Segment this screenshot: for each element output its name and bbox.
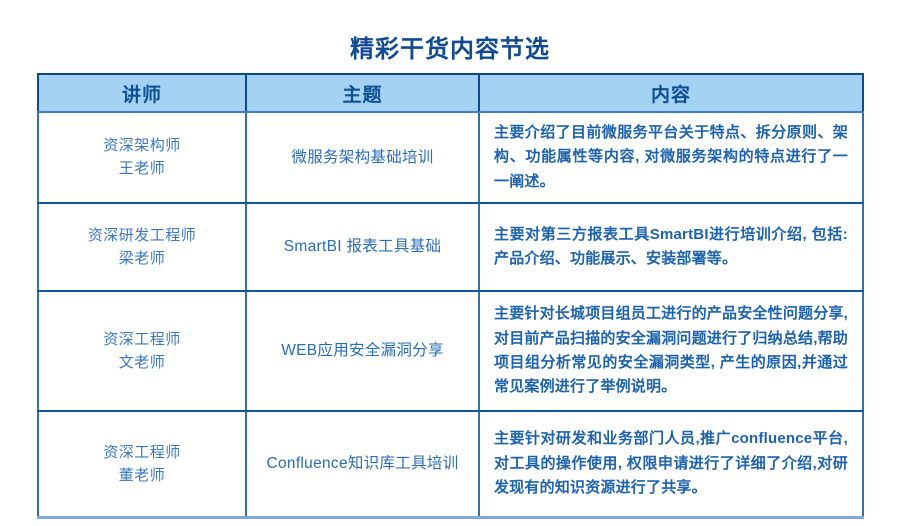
table-header: 讲师 主题 内容 bbox=[38, 74, 863, 112]
cell-content: 主要介绍了目前微服务平台关于特点、拆分原则、架构、功能属性等内容, 对微服务架构… bbox=[479, 112, 863, 203]
cell-teacher: 资深研发工程师 梁老师 bbox=[38, 203, 246, 291]
teacher-block: 资深工程师 文老师 bbox=[39, 322, 245, 381]
content-description: 主要针对长城项目组员工进行的产品安全性问题分享,对目前产品扫描的安全漏洞问题进行… bbox=[480, 294, 862, 407]
table-row: 资深研发工程师 梁老师 SmartBI 报表工具基础 主要对第三方报表工具Sma… bbox=[38, 203, 863, 291]
cell-topic: WEB应用安全漏洞分享 bbox=[246, 291, 479, 411]
cell-topic: SmartBI 报表工具基础 bbox=[246, 203, 479, 291]
column-header-content: 内容 bbox=[479, 74, 863, 112]
cell-content: 主要针对研发和业务部门人员,推广confluence平台, 对工具的操作使用, … bbox=[479, 411, 863, 518]
teacher-name: 王老师 bbox=[47, 157, 237, 180]
column-header-teacher: 讲师 bbox=[38, 74, 246, 112]
teacher-role: 资深工程师 bbox=[47, 328, 237, 351]
table-row: 资深架构师 王老师 微服务架构基础培训 主要介绍了目前微服务平台关于特点、拆分原… bbox=[38, 112, 863, 203]
topic-label: WEB应用安全漏洞分享 bbox=[247, 333, 478, 368]
column-header-topic: 主题 bbox=[246, 74, 479, 112]
cell-topic: Confluence知识库工具培训 bbox=[246, 411, 479, 518]
topic-label: 微服务架构基础培训 bbox=[247, 140, 478, 175]
content-description: 主要介绍了目前微服务平台关于特点、拆分原则、架构、功能属性等内容, 对微服务架构… bbox=[480, 113, 862, 202]
teacher-role: 资深工程师 bbox=[47, 441, 237, 464]
cell-teacher: 资深工程师 董老师 bbox=[38, 411, 246, 518]
topic-label: SmartBI 报表工具基础 bbox=[247, 229, 478, 264]
teacher-block: 资深架构师 王老师 bbox=[39, 128, 245, 187]
teacher-block: 资深工程师 董老师 bbox=[39, 435, 245, 494]
topic-label: Confluence知识库工具培训 bbox=[247, 446, 478, 481]
content-table: 讲师 主题 内容 资深架构师 王老师 微服务架构基础培训 bbox=[37, 73, 864, 519]
slide-page: 精彩干货内容节选 讲师 主题 内容 资深架构师 bbox=[0, 0, 900, 526]
table-row: 资深工程师 董老师 Confluence知识库工具培训 主要针对研发和业务部门人… bbox=[38, 411, 863, 518]
content-description: 主要对第三方报表工具SmartBI进行培训介绍, 包括:产品介绍、功能展示、安装… bbox=[480, 215, 862, 280]
table-header-row: 讲师 主题 内容 bbox=[38, 74, 863, 112]
title-container: 精彩干货内容节选 bbox=[0, 22, 900, 78]
content-table-container: 讲师 主题 内容 资深架构师 王老师 微服务架构基础培训 bbox=[37, 73, 862, 491]
cell-topic: 微服务架构基础培训 bbox=[246, 112, 479, 203]
teacher-role: 资深研发工程师 bbox=[47, 224, 237, 247]
teacher-name: 董老师 bbox=[47, 464, 237, 487]
teacher-role: 资深架构师 bbox=[47, 134, 237, 157]
teacher-name: 文老师 bbox=[47, 351, 237, 374]
cell-teacher: 资深架构师 王老师 bbox=[38, 112, 246, 203]
teacher-block: 资深研发工程师 梁老师 bbox=[39, 218, 245, 277]
content-description: 主要针对研发和业务部门人员,推广confluence平台, 对工具的操作使用, … bbox=[480, 419, 862, 508]
cell-teacher: 资深工程师 文老师 bbox=[38, 291, 246, 411]
table-row: 资深工程师 文老师 WEB应用安全漏洞分享 主要针对长城项目组员工进行的产品安全… bbox=[38, 291, 863, 411]
cell-content: 主要对第三方报表工具SmartBI进行培训介绍, 包括:产品介绍、功能展示、安装… bbox=[479, 203, 863, 291]
table-body: 资深架构师 王老师 微服务架构基础培训 主要介绍了目前微服务平台关于特点、拆分原… bbox=[38, 112, 863, 517]
cell-content: 主要针对长城项目组员工进行的产品安全性问题分享,对目前产品扫描的安全漏洞问题进行… bbox=[479, 291, 863, 411]
teacher-name: 梁老师 bbox=[47, 247, 237, 270]
page-title: 精彩干货内容节选 bbox=[350, 38, 550, 62]
